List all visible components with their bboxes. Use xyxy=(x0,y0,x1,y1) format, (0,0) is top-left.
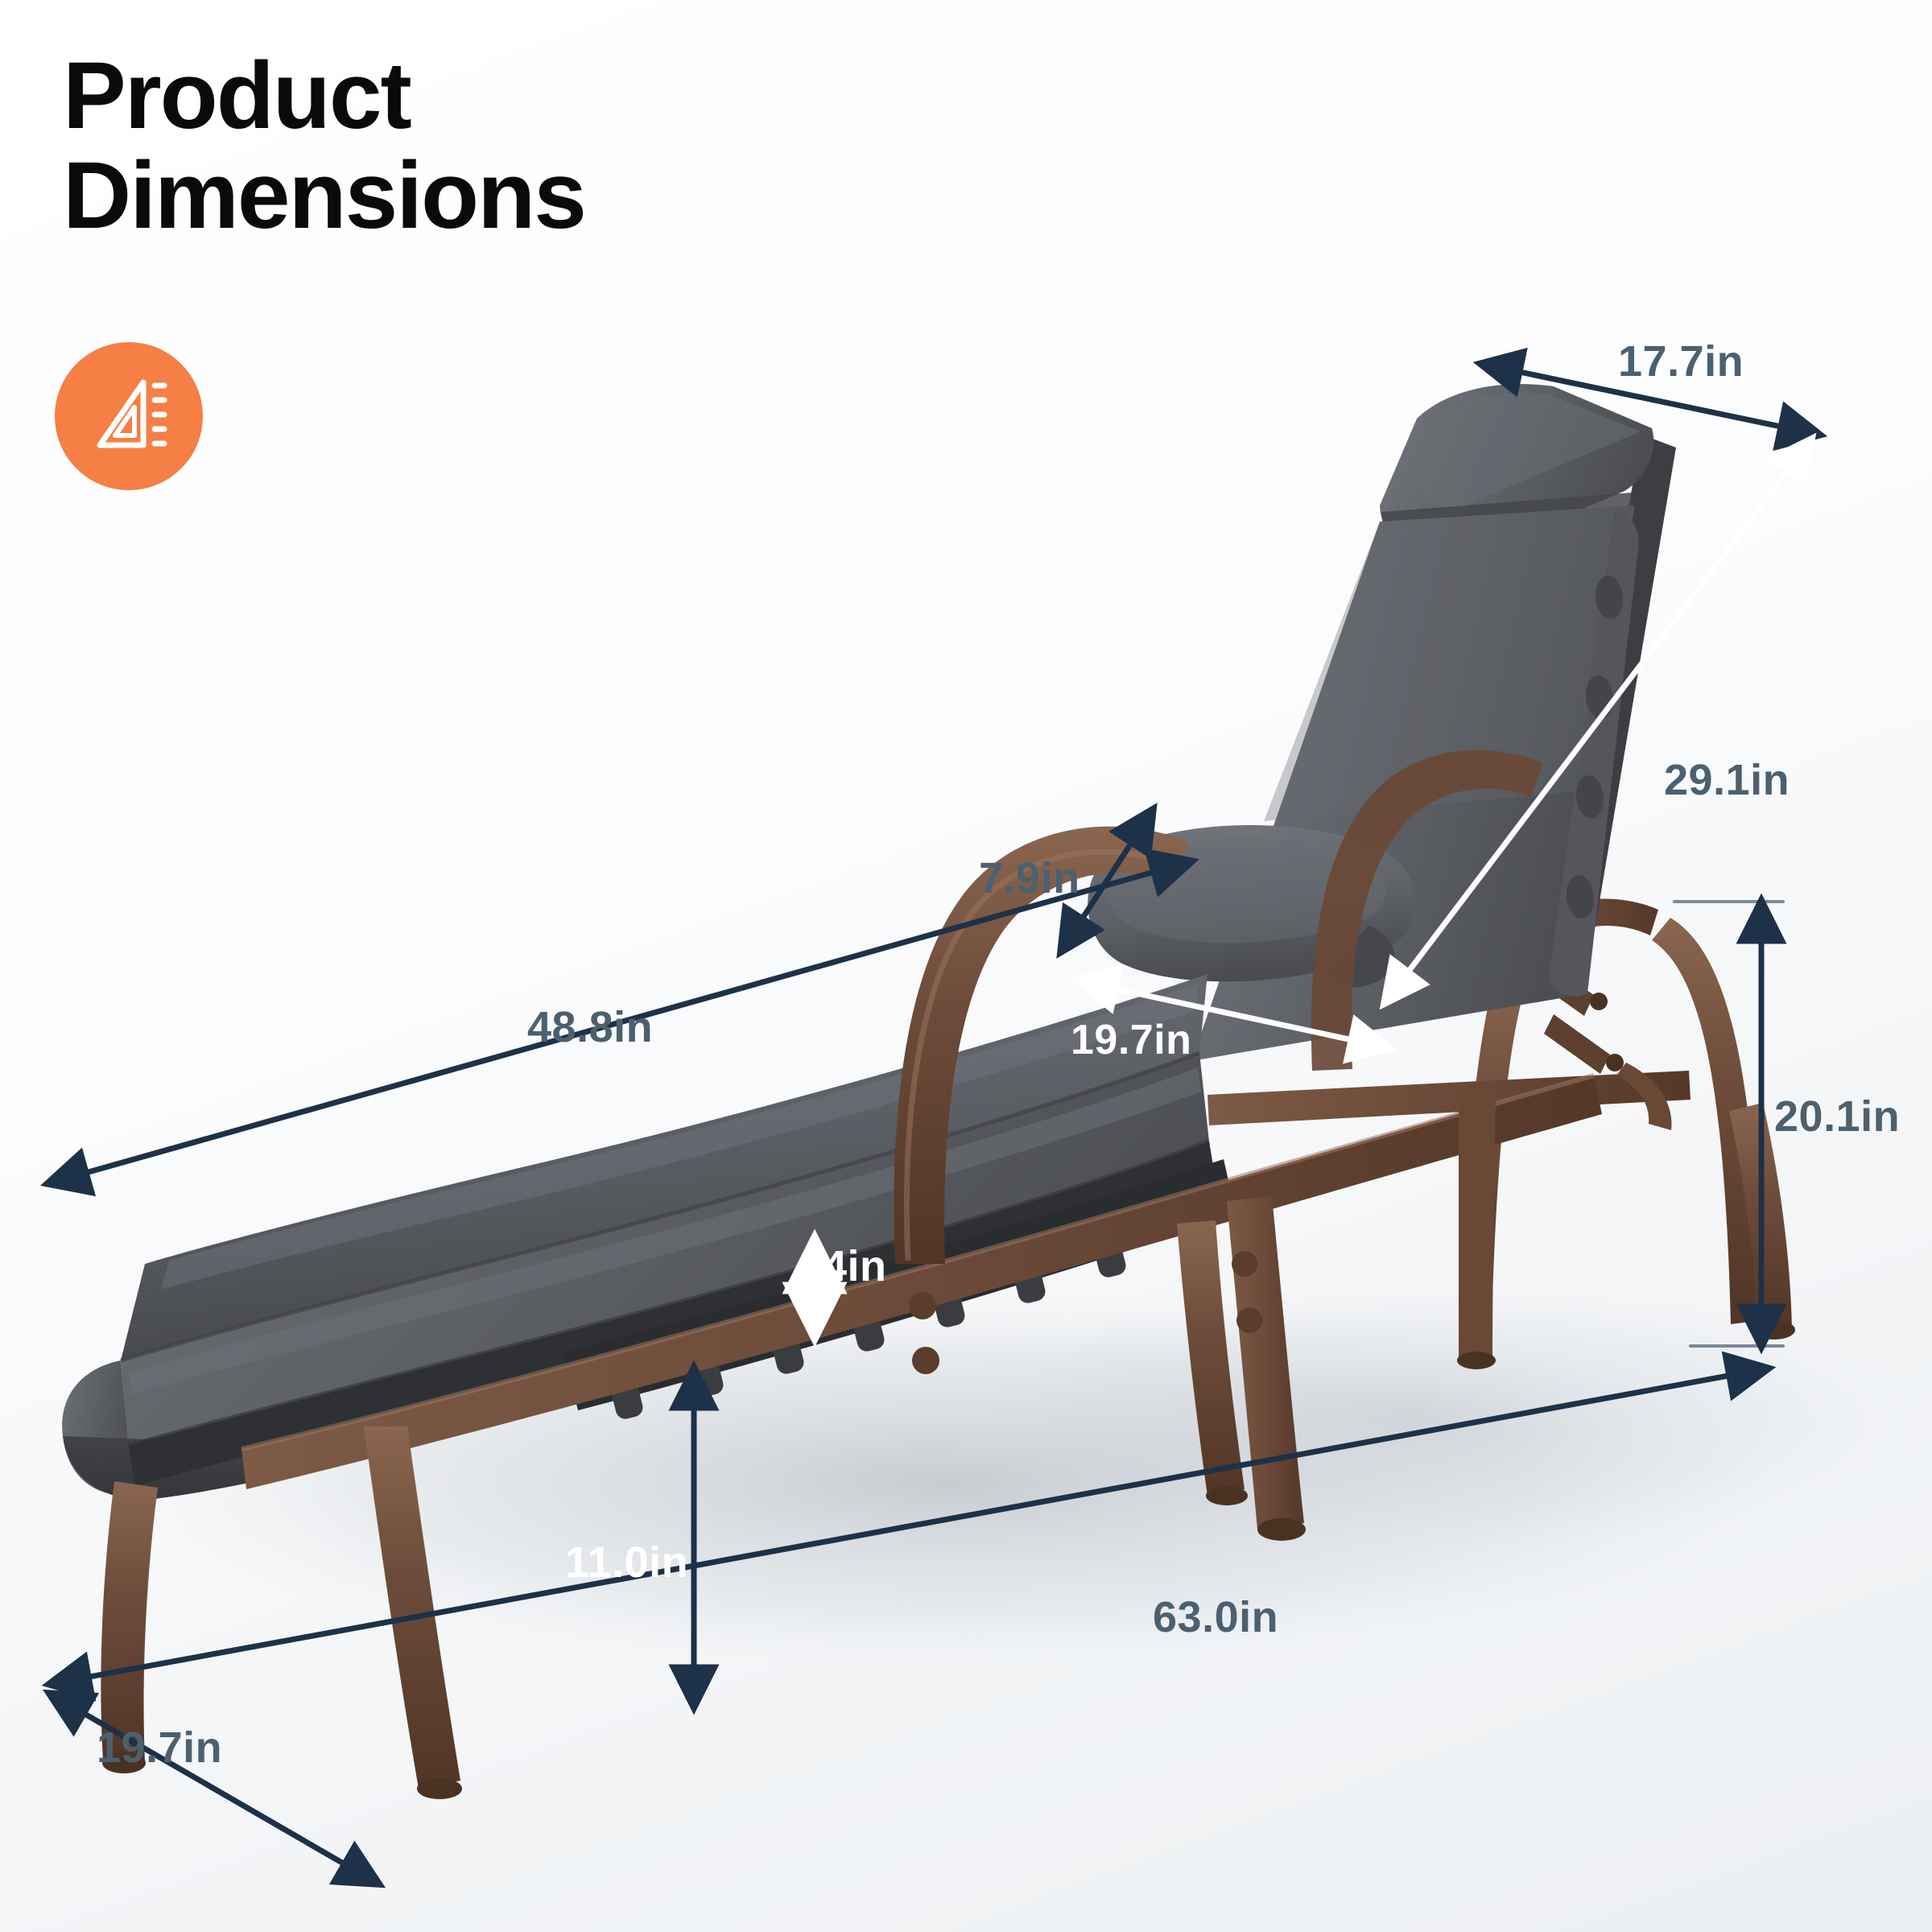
dim-label-backrest-height: 29.1in xyxy=(1664,755,1790,805)
dim-label-cushion-thickness: 4in xyxy=(823,1241,887,1291)
dim-label-overall-length: 63.0in xyxy=(1153,1592,1278,1642)
dim-label-overall-height: 20.1in xyxy=(1774,1092,1900,1141)
product-scene xyxy=(0,0,1932,1932)
dim-label-width-top: 17.7in xyxy=(1618,336,1744,386)
dim-label-overall-width: 19.7in xyxy=(97,1723,222,1773)
dim-label-cushion-length: 48.8in xyxy=(527,1002,653,1052)
product-dimensions-infographic: Product Dimensions xyxy=(0,0,1932,1932)
dim-label-seat-height: 11.0in xyxy=(565,1538,688,1587)
dim-label-pillow-depth: 7.9in xyxy=(979,853,1080,903)
dim-label-seat-width: 19.7in xyxy=(1071,1016,1191,1064)
